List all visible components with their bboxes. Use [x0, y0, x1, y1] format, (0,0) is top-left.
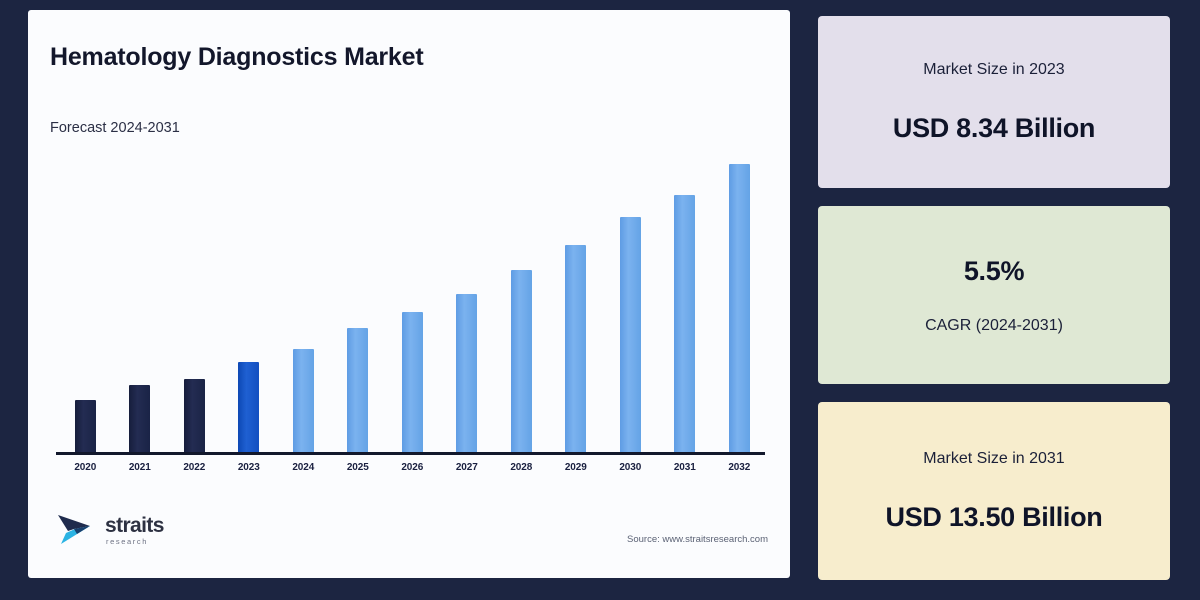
x-axis-label-2023: 2023 — [222, 462, 277, 473]
bar-2032 — [712, 152, 767, 452]
stat-card-market-size-2023: Market Size in 2023 USD 8.34 Billion — [818, 16, 1170, 188]
x-axis-label-2021: 2021 — [113, 462, 168, 473]
x-axis-label-2031: 2031 — [658, 462, 713, 473]
bar-rect-2029 — [565, 245, 586, 452]
logo-wordmark: straits — [105, 515, 164, 536]
bar-rect-2031 — [674, 195, 695, 452]
bar-rect-2026 — [402, 312, 423, 452]
bar-2026 — [385, 152, 440, 452]
stat-value: USD 8.34 Billion — [893, 113, 1095, 144]
x-axis-label-2024: 2024 — [276, 462, 331, 473]
x-axis-label-2029: 2029 — [549, 462, 604, 473]
straits-research-logo: straits research — [56, 510, 164, 550]
bar-2022 — [167, 152, 222, 452]
x-axis-label-2022: 2022 — [167, 462, 222, 473]
x-axis-label-2020: 2020 — [58, 462, 113, 473]
logo-text: straits research — [105, 515, 164, 546]
x-axis-label-2025: 2025 — [331, 462, 386, 473]
bar-chart-plot: 2020202120222023202420252026202720282029… — [28, 10, 790, 578]
stat-caption: CAGR (2024-2031) — [925, 317, 1063, 335]
stat-value: 5.5% — [964, 256, 1024, 287]
bar-rect-2022 — [184, 379, 205, 452]
bar-rect-2024 — [293, 349, 314, 452]
bar-rect-2030 — [620, 217, 641, 452]
stat-caption: Market Size in 2023 — [923, 61, 1064, 79]
bar-2031 — [658, 152, 713, 452]
bar-2024 — [276, 152, 331, 452]
stat-value: USD 13.50 Billion — [886, 502, 1103, 533]
chart-panel: Hematology Diagnostics Market Forecast 2… — [28, 10, 790, 578]
logo-arrow-icon — [56, 510, 98, 550]
bar-rect-2032 — [729, 164, 750, 452]
bar-2027 — [440, 152, 495, 452]
stat-caption: Market Size in 2031 — [923, 450, 1064, 468]
bar-2025 — [331, 152, 386, 452]
bar-rect-2023 — [238, 362, 259, 452]
bar-rect-2021 — [129, 385, 150, 452]
bar-rect-2027 — [456, 294, 477, 452]
logo-subtext: research — [106, 538, 164, 546]
bar-2021 — [113, 152, 168, 452]
stat-card-market-size-2031: Market Size in 2031 USD 13.50 Billion — [818, 402, 1170, 580]
source-note: Source: www.straitsresearch.com — [627, 534, 768, 545]
bar-rect-2020 — [75, 400, 96, 452]
bar-rect-2025 — [347, 328, 368, 452]
x-axis-label-2027: 2027 — [440, 462, 495, 473]
x-axis-label-2032: 2032 — [712, 462, 767, 473]
x-axis-label-2030: 2030 — [603, 462, 658, 473]
bar-2023 — [222, 152, 277, 452]
x-axis-label-2028: 2028 — [494, 462, 549, 473]
bar-2020 — [58, 152, 113, 452]
bar-2029 — [549, 152, 604, 452]
stat-card-cagr: 5.5% CAGR (2024-2031) — [818, 206, 1170, 384]
bar-rect-2028 — [511, 270, 532, 452]
bar-2028 — [494, 152, 549, 452]
x-axis-label-2026: 2026 — [385, 462, 440, 473]
x-axis-line — [56, 452, 765, 455]
bar-2030 — [603, 152, 658, 452]
